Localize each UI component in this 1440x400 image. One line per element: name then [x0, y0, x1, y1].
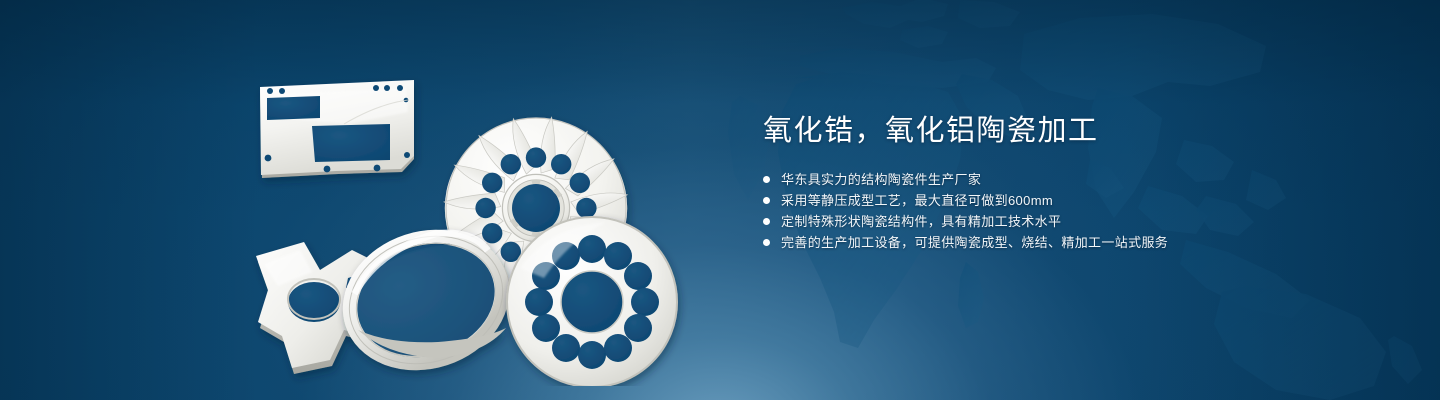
bullet-dot-icon — [763, 176, 770, 183]
list-item: 定制特殊形状陶瓷结构件，具有精加工技术水平 — [763, 211, 1383, 232]
list-item: 采用等静压成型工艺，最大直径可做到600mm — [763, 190, 1383, 211]
list-item: 完善的生产加工设备，可提供陶瓷成型、烧结、精加工一站式服务 — [763, 232, 1383, 253]
machined-ceramic-plate — [260, 80, 414, 178]
perforated-ceramic-disc — [507, 217, 677, 386]
ceramic-parts-photo — [238, 38, 688, 386]
banner-text-block: 氧化锆，氧化铝陶瓷加工 华东具实力的结构陶瓷件生产厂家 采用等静压成型工艺，最大… — [763, 112, 1383, 253]
feature-bullet-list: 华东具实力的结构陶瓷件生产厂家 采用等静压成型工艺，最大直径可做到600mm 定… — [763, 169, 1383, 253]
list-item: 华东具实力的结构陶瓷件生产厂家 — [763, 169, 1383, 190]
bullet-dot-icon — [763, 218, 770, 225]
bullet-dot-icon — [763, 197, 770, 204]
page-title: 氧化锆，氧化铝陶瓷加工 — [763, 112, 1383, 150]
hero-banner: 氧化锆，氧化铝陶瓷加工 华东具实力的结构陶瓷件生产厂家 采用等静压成型工艺，最大… — [0, 0, 1440, 400]
bullet-dot-icon — [763, 239, 770, 246]
list-item-label: 采用等静压成型工艺，最大直径可做到600mm — [781, 190, 1053, 211]
list-item-label: 华东具实力的结构陶瓷件生产厂家 — [781, 169, 981, 190]
list-item-label: 定制特殊形状陶瓷结构件，具有精加工技术水平 — [781, 211, 1061, 232]
list-item-label: 完善的生产加工设备，可提供陶瓷成型、烧结、精加工一站式服务 — [781, 232, 1168, 253]
